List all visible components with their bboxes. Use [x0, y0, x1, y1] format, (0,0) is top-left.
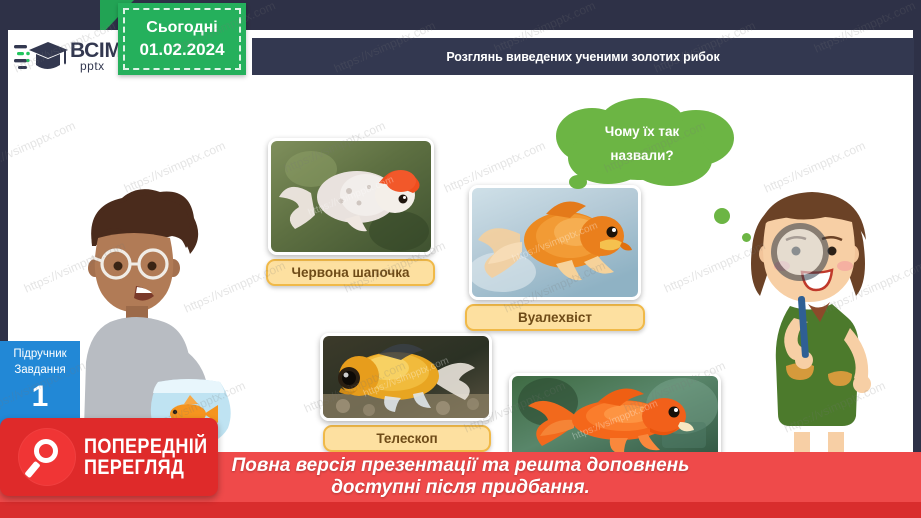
date-badge-value: 01.02.2024: [139, 40, 224, 60]
veiltail-goldfish-photo: https://vsimpptx.com: [469, 185, 641, 300]
girl-with-magnifier-illustration: [742, 188, 917, 488]
bubble-dot-small: [742, 233, 751, 242]
today-date-badge: Сьогодні 01.02.2024: [118, 3, 246, 75]
bubble-dot-large: [714, 208, 730, 224]
bubble-line-1: Чому їх так: [605, 120, 680, 144]
fish-label-red-cap: Червона шапочка: [266, 259, 435, 286]
bubble-line-2: назвали?: [610, 144, 673, 168]
speech-bubble: Чому їх так назвали?: [538, 96, 746, 200]
task-badge-number: 1: [32, 380, 49, 414]
fish-card-telescope[interactable]: https://vsimpptx.com Телескоп: [320, 333, 492, 452]
bottom-strip: [0, 502, 921, 518]
fish-card-veiltail[interactable]: https://vsimpptx.com Вуалехвіст: [469, 185, 645, 331]
logo-subtext: pptx: [70, 61, 122, 72]
magnifier-icon: [18, 428, 76, 486]
preview-badge[interactable]: ПОПЕРЕДНІЙ ПЕРЕГЛЯД: [0, 418, 218, 496]
red-cap-goldfish-photo: https://vsimpptx.com: [268, 138, 434, 255]
speech-bubble-text: Чому їх так назвали?: [538, 96, 746, 192]
logo-wordmark: ВСІМ: [70, 41, 122, 60]
graduation-cap-icon: [14, 37, 68, 77]
date-badge-label: Сьогодні: [146, 19, 217, 37]
preview-badge-line-1: ПОПЕРЕДНІЙ: [84, 436, 208, 457]
slide-canvas: https://vsimpptx.com Червона шапочка: [0, 0, 921, 518]
task-badge-line-2: Завдання: [14, 363, 65, 379]
task-badge-line-1: Підручник: [13, 347, 66, 363]
header-bar: Розглянь виведених ученими золотих рибок: [252, 38, 914, 75]
fish-card-red-cap[interactable]: https://vsimpptx.com Червона шапочка: [268, 138, 435, 286]
fish-label-veiltail: Вуалехвіст: [465, 304, 645, 331]
preview-badge-line-2: ПЕРЕГЛЯД: [84, 457, 208, 478]
page-title: Розглянь виведених ученими золотих рибок: [446, 50, 719, 64]
banner-line-1: Повна версія презентації та решта доповн…: [232, 455, 690, 477]
fish-label-telescope: Телескоп: [323, 425, 491, 452]
banner-line-2: доступні після придбання.: [331, 477, 590, 499]
telescope-goldfish-photo: https://vsimpptx.com: [320, 333, 492, 421]
